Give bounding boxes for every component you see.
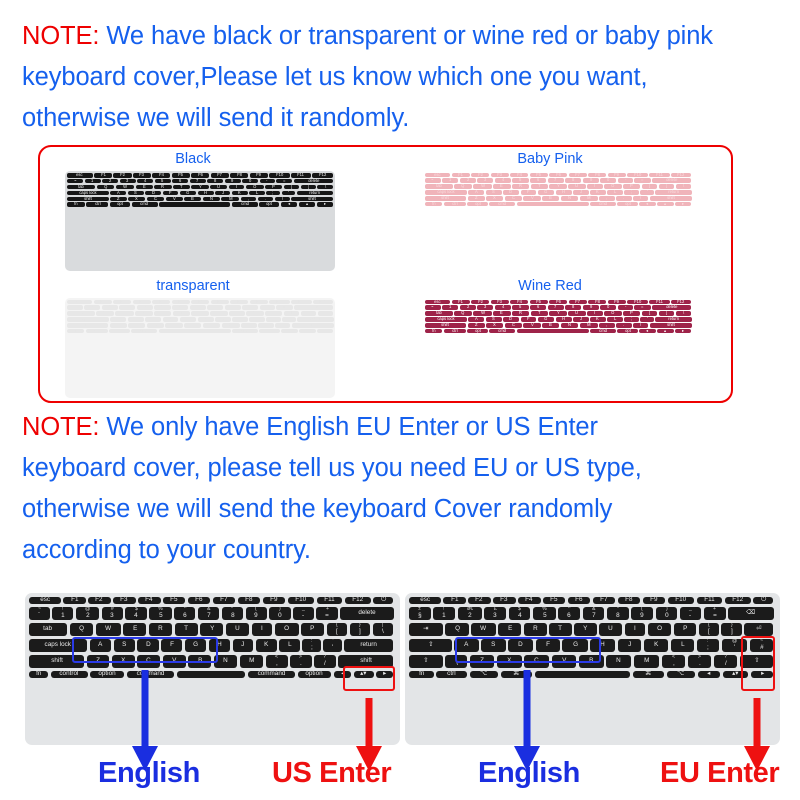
key-f12: F12 bbox=[345, 597, 371, 604]
key-2: 2 bbox=[460, 305, 476, 310]
key-fn: fn bbox=[409, 671, 434, 678]
keyboard-row: escF1F2F3F4F5F6F7F8F9F10F11F12⏻ bbox=[409, 597, 776, 604]
key-s: S bbox=[128, 317, 144, 322]
key-f: F bbox=[521, 190, 537, 195]
key-5: 5 bbox=[512, 305, 528, 310]
key-\: \ bbox=[676, 311, 692, 316]
key-f11: F11 bbox=[697, 597, 723, 604]
key-f4: F4 bbox=[510, 300, 528, 305]
key-shift: shift bbox=[425, 196, 467, 201]
key-1: !1 bbox=[52, 607, 73, 620]
key-f12: F12 bbox=[671, 173, 692, 178]
keyboard-row: tabQWERTYUIOP[]\ bbox=[67, 311, 334, 316]
key-f9: F9 bbox=[250, 173, 268, 178]
key-f11: F11 bbox=[291, 173, 311, 178]
key-r: R bbox=[154, 185, 171, 190]
key-q: Q bbox=[96, 311, 114, 316]
swatch-label-wine-red: Wine Red bbox=[450, 278, 650, 294]
key-u: U bbox=[226, 623, 249, 636]
key-g: G bbox=[180, 317, 196, 322]
key-]: ] bbox=[301, 311, 317, 316]
key-c: C bbox=[147, 197, 164, 202]
key-shift: shift bbox=[67, 323, 109, 328]
swatch-label-baby-pink: Baby Pink bbox=[450, 151, 650, 167]
key-option: option bbox=[90, 671, 124, 678]
key-a: A bbox=[468, 190, 484, 195]
key-4: $4 bbox=[125, 607, 146, 620]
key-.: >. bbox=[290, 655, 311, 668]
key-o: O bbox=[604, 184, 622, 189]
key-1: 1 bbox=[84, 305, 100, 310]
key-f9: F9 bbox=[608, 300, 626, 305]
key-[: {[ bbox=[699, 623, 719, 636]
key-r: R bbox=[512, 184, 530, 189]
key-tab: tab bbox=[67, 185, 95, 190]
key-p: P bbox=[265, 185, 282, 190]
key-f12: F12 bbox=[313, 300, 334, 305]
key-3: 3 bbox=[120, 179, 136, 184]
key-t: T bbox=[175, 623, 198, 636]
key-u: U bbox=[210, 185, 227, 190]
key-f6: F6 bbox=[549, 300, 567, 305]
key-f10: F10 bbox=[627, 173, 648, 178]
key-◂: ◂ bbox=[639, 329, 656, 334]
key-.: >. bbox=[688, 655, 711, 668]
key-v: V bbox=[166, 197, 183, 202]
key-~: ~ bbox=[67, 305, 83, 310]
key-v: V bbox=[165, 323, 182, 328]
key-v: V bbox=[163, 655, 186, 668]
key-g: G bbox=[185, 639, 207, 652]
key-x: X bbox=[486, 323, 503, 328]
key-f5: F5 bbox=[163, 597, 185, 604]
key-h: H bbox=[556, 317, 572, 322]
key--: - bbox=[260, 179, 275, 184]
key-f3: F3 bbox=[133, 173, 151, 178]
key-.: . bbox=[258, 197, 274, 202]
key-4: 4 bbox=[495, 178, 511, 183]
key-f7: F7 bbox=[569, 300, 587, 305]
key-a: A bbox=[468, 317, 484, 322]
key-caps-lock: caps lock bbox=[425, 190, 467, 195]
key-0: 0 bbox=[242, 179, 258, 184]
color-options-box: Black Baby Pink transparent Wine Red esc… bbox=[38, 145, 733, 403]
key-space bbox=[517, 329, 589, 334]
key-=: += bbox=[704, 607, 726, 620]
key-': ' bbox=[640, 317, 654, 322]
key-z: Z bbox=[87, 655, 109, 668]
keyboard-row: fnctrloptcmdcmdopt◂▴▸ bbox=[425, 202, 692, 207]
caption-us-enter: US Enter bbox=[272, 757, 391, 790]
key-0: )0 bbox=[269, 607, 290, 620]
key-f: F bbox=[536, 639, 560, 652]
keyboard-row: shiftZXCVBNM<,>.?/shift bbox=[29, 655, 396, 668]
key-f5: F5 bbox=[543, 597, 565, 604]
key-esc: esc bbox=[409, 597, 441, 604]
key-v: V bbox=[552, 655, 577, 668]
keyboard-us-layout: escF1F2F3F4F5F6F7F8F9F10F11F12⏻~`!1@2#3$… bbox=[25, 593, 400, 745]
keyboard-row: ⇪ASDFGHJKL:;@'~# bbox=[409, 639, 776, 652]
key-space bbox=[517, 202, 589, 207]
key-y: Y bbox=[200, 623, 223, 636]
key-⌘: ⌘ bbox=[501, 671, 532, 678]
key-⏻: ⏻ bbox=[373, 597, 393, 604]
key-opt: opt bbox=[617, 329, 637, 334]
key-h: H bbox=[556, 190, 572, 195]
keyboard-row: escF1F2F3F4F5F6F7F8F9F10F11F12 bbox=[425, 300, 692, 305]
key-0: 0 bbox=[600, 178, 616, 183]
key-i: I bbox=[252, 623, 272, 636]
key-cmd: cmd bbox=[131, 329, 157, 334]
key-◂: ◂ bbox=[639, 202, 656, 207]
key-q: Q bbox=[445, 623, 468, 636]
keyboard-row: fnctrloptcmdcmdopt◂▴▸ bbox=[67, 329, 334, 334]
key-2: 2 bbox=[460, 178, 476, 183]
key-0: )0 bbox=[656, 607, 678, 620]
key-f: F bbox=[163, 191, 179, 196]
key-f9: F9 bbox=[643, 597, 665, 604]
key-8: 8 bbox=[207, 179, 223, 184]
key-f2: F2 bbox=[471, 173, 489, 178]
key-1: 1 bbox=[85, 179, 101, 184]
key-m: M bbox=[222, 323, 240, 328]
key-=: = bbox=[634, 178, 650, 183]
key-s: S bbox=[114, 639, 135, 652]
key-f12: F12 bbox=[725, 597, 751, 604]
key-=: = bbox=[634, 305, 650, 310]
key-~: ~ bbox=[67, 179, 83, 184]
key-u: U bbox=[210, 311, 228, 316]
key-o: O bbox=[275, 623, 299, 636]
key-f4: F4 bbox=[138, 597, 160, 604]
keyboard-row: caps lockASDFGHJKL:;"'return bbox=[29, 639, 396, 652]
key-,: , bbox=[599, 196, 615, 201]
key-y: Y bbox=[549, 311, 566, 316]
key-l: L bbox=[279, 639, 299, 652]
key-f5: F5 bbox=[172, 173, 190, 178]
note2-line-4: according to your country. bbox=[22, 530, 782, 571]
key-,: , bbox=[599, 323, 615, 328]
keyboard-row: caps lockASDFGHJKL;'return bbox=[67, 317, 334, 322]
key-t: T bbox=[531, 184, 548, 189]
key-esc: esc bbox=[67, 173, 93, 178]
keyboard-row: tabQWERTYUIOP[]\ bbox=[425, 311, 692, 316]
key-7: 7 bbox=[548, 305, 564, 310]
key-b: B bbox=[542, 323, 559, 328]
key-f: F bbox=[521, 317, 537, 322]
key-f3: F3 bbox=[113, 597, 135, 604]
key-f8: F8 bbox=[588, 300, 606, 305]
key-2: 2 bbox=[102, 305, 118, 310]
key-command: command bbox=[248, 671, 295, 678]
key-f3: F3 bbox=[491, 173, 509, 178]
key-j: J bbox=[573, 190, 588, 195]
keyboard-row: fncontroloptioncommandcommandoption◂▴▾▸ bbox=[29, 671, 396, 678]
key-f4: F4 bbox=[152, 300, 170, 305]
key-k: K bbox=[232, 191, 248, 196]
key-w: W bbox=[473, 311, 491, 316]
keyboard-swatch-baby-pink: escF1F2F3F4F5F6F7F8F9F10F11F12~123456789… bbox=[423, 171, 693, 271]
key-k: K bbox=[256, 639, 277, 652]
key-s: S bbox=[486, 317, 502, 322]
key-◂: ◂ bbox=[334, 671, 351, 678]
key-6: 6 bbox=[172, 305, 188, 310]
key-f10: F10 bbox=[668, 597, 694, 604]
key-t: T bbox=[173, 311, 190, 316]
key-b: B bbox=[542, 196, 559, 201]
key-q: Q bbox=[454, 311, 472, 316]
key-shift: shift bbox=[29, 655, 84, 668]
key-return: return bbox=[297, 191, 333, 196]
key-f11: F11 bbox=[317, 597, 343, 604]
key-space bbox=[159, 202, 230, 207]
key-z: Z bbox=[470, 655, 494, 668]
key-3: 3 bbox=[477, 178, 493, 183]
note1-line-3: otherwise we will send it randomly. bbox=[22, 98, 782, 139]
key-o: O bbox=[648, 623, 671, 636]
key-/: / bbox=[633, 323, 649, 328]
key-shift: shift bbox=[650, 323, 692, 328]
key-delete: delete bbox=[652, 178, 691, 183]
key-f1: F1 bbox=[452, 300, 470, 305]
key-d: D bbox=[503, 317, 519, 322]
key-a: A bbox=[110, 317, 126, 322]
key-g: G bbox=[538, 317, 554, 322]
key-▴: ▴ bbox=[657, 329, 674, 334]
key-z: Z bbox=[110, 197, 127, 202]
key-return: return bbox=[344, 639, 393, 652]
key-r: R bbox=[149, 623, 172, 636]
key-~: ~ bbox=[425, 305, 441, 310]
key-0: 0 bbox=[242, 305, 258, 310]
key-b: B bbox=[579, 655, 604, 668]
key-3: #3 bbox=[102, 607, 123, 620]
key-shift: shift bbox=[425, 323, 467, 328]
key-cmd: cmd bbox=[590, 202, 616, 207]
key-]: }] bbox=[350, 623, 370, 636]
key-f8: F8 bbox=[618, 597, 640, 604]
key-7: 7 bbox=[190, 179, 206, 184]
key-▸: ▸ bbox=[317, 202, 333, 207]
caption-english-us: English bbox=[98, 757, 200, 790]
key-▴: ▴ bbox=[657, 202, 674, 207]
key-▴: ▴ bbox=[299, 329, 316, 334]
key-⌥: ⌥ bbox=[667, 671, 696, 678]
key-2: @2 bbox=[76, 607, 99, 620]
keyboard-row: ⇥QWERTYUIOP{[}]⏎ bbox=[409, 623, 776, 636]
key-9: (9 bbox=[246, 607, 267, 620]
key-f: F bbox=[163, 317, 179, 322]
key-b: B bbox=[184, 197, 201, 202]
key-5: 5 bbox=[512, 178, 528, 183]
key-return: return bbox=[655, 190, 691, 195]
key--: _- bbox=[680, 607, 701, 620]
key-shift: shift bbox=[338, 655, 393, 668]
key-~: ~ bbox=[425, 178, 441, 183]
key-caps-lock: caps lock bbox=[67, 317, 109, 322]
key-h: H bbox=[590, 639, 615, 652]
key-\: \ bbox=[317, 185, 333, 190]
key-x: X bbox=[497, 655, 522, 668]
key-\: |\ bbox=[373, 623, 393, 636]
key-y: Y bbox=[549, 184, 566, 189]
key-f2: F2 bbox=[113, 300, 131, 305]
keyboard-row: ~1234567890-=delete bbox=[425, 305, 692, 310]
key-t: T bbox=[531, 311, 548, 316]
key-j: J bbox=[233, 639, 253, 652]
key-q: Q bbox=[97, 185, 115, 190]
key-i: I bbox=[587, 184, 603, 189]
key-\: \ bbox=[676, 184, 692, 189]
key-6: 6 bbox=[172, 179, 188, 184]
key-9: 9 bbox=[583, 305, 599, 310]
key-k: K bbox=[590, 317, 606, 322]
key-m: M bbox=[580, 323, 598, 328]
key-': @' bbox=[722, 639, 747, 652]
key-r: R bbox=[524, 623, 547, 636]
key-y: Y bbox=[574, 623, 597, 636]
key-d: D bbox=[137, 639, 158, 652]
key-esc: esc bbox=[425, 300, 451, 305]
key-f4: F4 bbox=[518, 597, 540, 604]
key-': ' bbox=[282, 191, 296, 196]
key-5: 5 bbox=[154, 305, 170, 310]
key-;: ; bbox=[266, 317, 280, 322]
key-': ' bbox=[640, 190, 654, 195]
key-m: M bbox=[221, 197, 239, 202]
key-l: L bbox=[607, 190, 623, 195]
note-block-layout: NOTE: We only have English EU Enter or U… bbox=[22, 407, 782, 571]
keyboard-row: ~1234567890-=delete bbox=[67, 305, 334, 310]
key-i: I bbox=[229, 311, 245, 316]
key-,: <, bbox=[662, 655, 685, 668]
key-e: E bbox=[493, 184, 510, 189]
key-3: 3 bbox=[119, 305, 135, 310]
key-9: 9 bbox=[225, 179, 241, 184]
key-return: return bbox=[297, 317, 333, 322]
key-opt: opt bbox=[109, 329, 129, 334]
key-delete: delete bbox=[294, 179, 333, 184]
key-w: W bbox=[473, 184, 491, 189]
key-[: [ bbox=[642, 184, 658, 189]
key-t: T bbox=[549, 623, 571, 636]
key-.: . bbox=[616, 323, 632, 328]
key-▸: ▸ bbox=[376, 671, 393, 678]
key-f8: F8 bbox=[230, 173, 248, 178]
key-f8: F8 bbox=[588, 173, 606, 178]
key-,: , bbox=[241, 323, 257, 328]
key-d: D bbox=[503, 190, 519, 195]
key-z: Z bbox=[110, 323, 127, 328]
key-': ' bbox=[282, 317, 296, 322]
key-/: ?/ bbox=[714, 655, 737, 668]
key-e: E bbox=[135, 311, 152, 316]
key-b: B bbox=[184, 323, 201, 328]
key-◂: ◂ bbox=[698, 671, 720, 678]
key--: - bbox=[618, 305, 633, 310]
keyboard-row: escF1F2F3F4F5F6F7F8F9F10F11F12⏻ bbox=[29, 597, 396, 604]
keyboard-row: ~1234567890-=delete bbox=[67, 179, 333, 184]
key-=: = bbox=[276, 179, 292, 184]
key-⌫: ⌫ bbox=[728, 607, 773, 620]
key-;: ; bbox=[624, 317, 638, 322]
key-e: E bbox=[493, 311, 510, 316]
key-ctrl: ctrl bbox=[86, 202, 108, 207]
key-6: ^6 bbox=[174, 607, 195, 620]
key-5: %5 bbox=[149, 607, 171, 620]
key-shift: shift bbox=[650, 196, 692, 201]
key-c: C bbox=[147, 323, 164, 328]
key--: - bbox=[618, 178, 633, 183]
key-z: Z bbox=[468, 323, 485, 328]
key-g: G bbox=[180, 191, 196, 196]
key-d: D bbox=[508, 639, 533, 652]
key-o: O bbox=[246, 311, 264, 316]
key-x: X bbox=[112, 655, 135, 668]
key-9: (9 bbox=[631, 607, 653, 620]
key-8: 8 bbox=[565, 305, 581, 310]
key-[: [ bbox=[642, 311, 658, 316]
key-opt: opt bbox=[259, 202, 279, 207]
key-◂: ◂ bbox=[281, 329, 298, 334]
key-/: / bbox=[633, 196, 649, 201]
key-n: N bbox=[203, 197, 220, 202]
key-/: ?/ bbox=[314, 655, 335, 668]
note2-line-2: keyboard cover, please tell us you need … bbox=[22, 448, 782, 489]
key-f2: F2 bbox=[471, 300, 489, 305]
key-1: 1 bbox=[442, 178, 458, 183]
key-delete: delete bbox=[652, 305, 691, 310]
key-e: E bbox=[136, 185, 153, 190]
key-f6: F6 bbox=[568, 597, 590, 604]
key-u: U bbox=[599, 623, 622, 636]
key-u: U bbox=[568, 184, 586, 189]
key-o: O bbox=[246, 185, 264, 190]
key-f5: F5 bbox=[530, 173, 548, 178]
key-8: *8 bbox=[607, 607, 629, 620]
keyboard-row: shiftZXCVBNM,./shift bbox=[425, 323, 692, 328]
key-o: O bbox=[604, 311, 622, 316]
key-fn: fn bbox=[67, 202, 85, 207]
key-cmd: cmd bbox=[232, 202, 258, 207]
key-k: K bbox=[644, 639, 668, 652]
key-6: ^6 bbox=[558, 607, 580, 620]
key-x: X bbox=[486, 196, 503, 201]
key-▴: ▴ bbox=[299, 202, 315, 207]
key-cmd: cmd bbox=[489, 329, 515, 334]
key-]: ] bbox=[659, 311, 675, 316]
key-f10: F10 bbox=[269, 173, 289, 178]
key-⇧: ⇧ bbox=[740, 655, 774, 668]
key-6: 6 bbox=[530, 305, 546, 310]
key-opt: opt bbox=[617, 202, 637, 207]
key-r: R bbox=[512, 311, 530, 316]
key-◂: ◂ bbox=[281, 202, 297, 207]
key-⏻: ⏻ bbox=[753, 597, 773, 604]
key-p: P bbox=[301, 623, 324, 636]
key-': "' bbox=[323, 639, 342, 652]
key-7: &7 bbox=[583, 607, 605, 620]
key-a: A bbox=[454, 639, 478, 652]
keyboard-row: shiftZXCVBNM,./shift bbox=[425, 196, 692, 201]
key-/: / bbox=[275, 323, 291, 328]
key-f6: F6 bbox=[549, 173, 567, 178]
key-ctrl: ctrl bbox=[444, 202, 466, 207]
key-w: W bbox=[96, 623, 121, 636]
key-f2: F2 bbox=[113, 173, 131, 178]
key-u: U bbox=[568, 311, 586, 316]
key-l: L bbox=[671, 639, 695, 652]
